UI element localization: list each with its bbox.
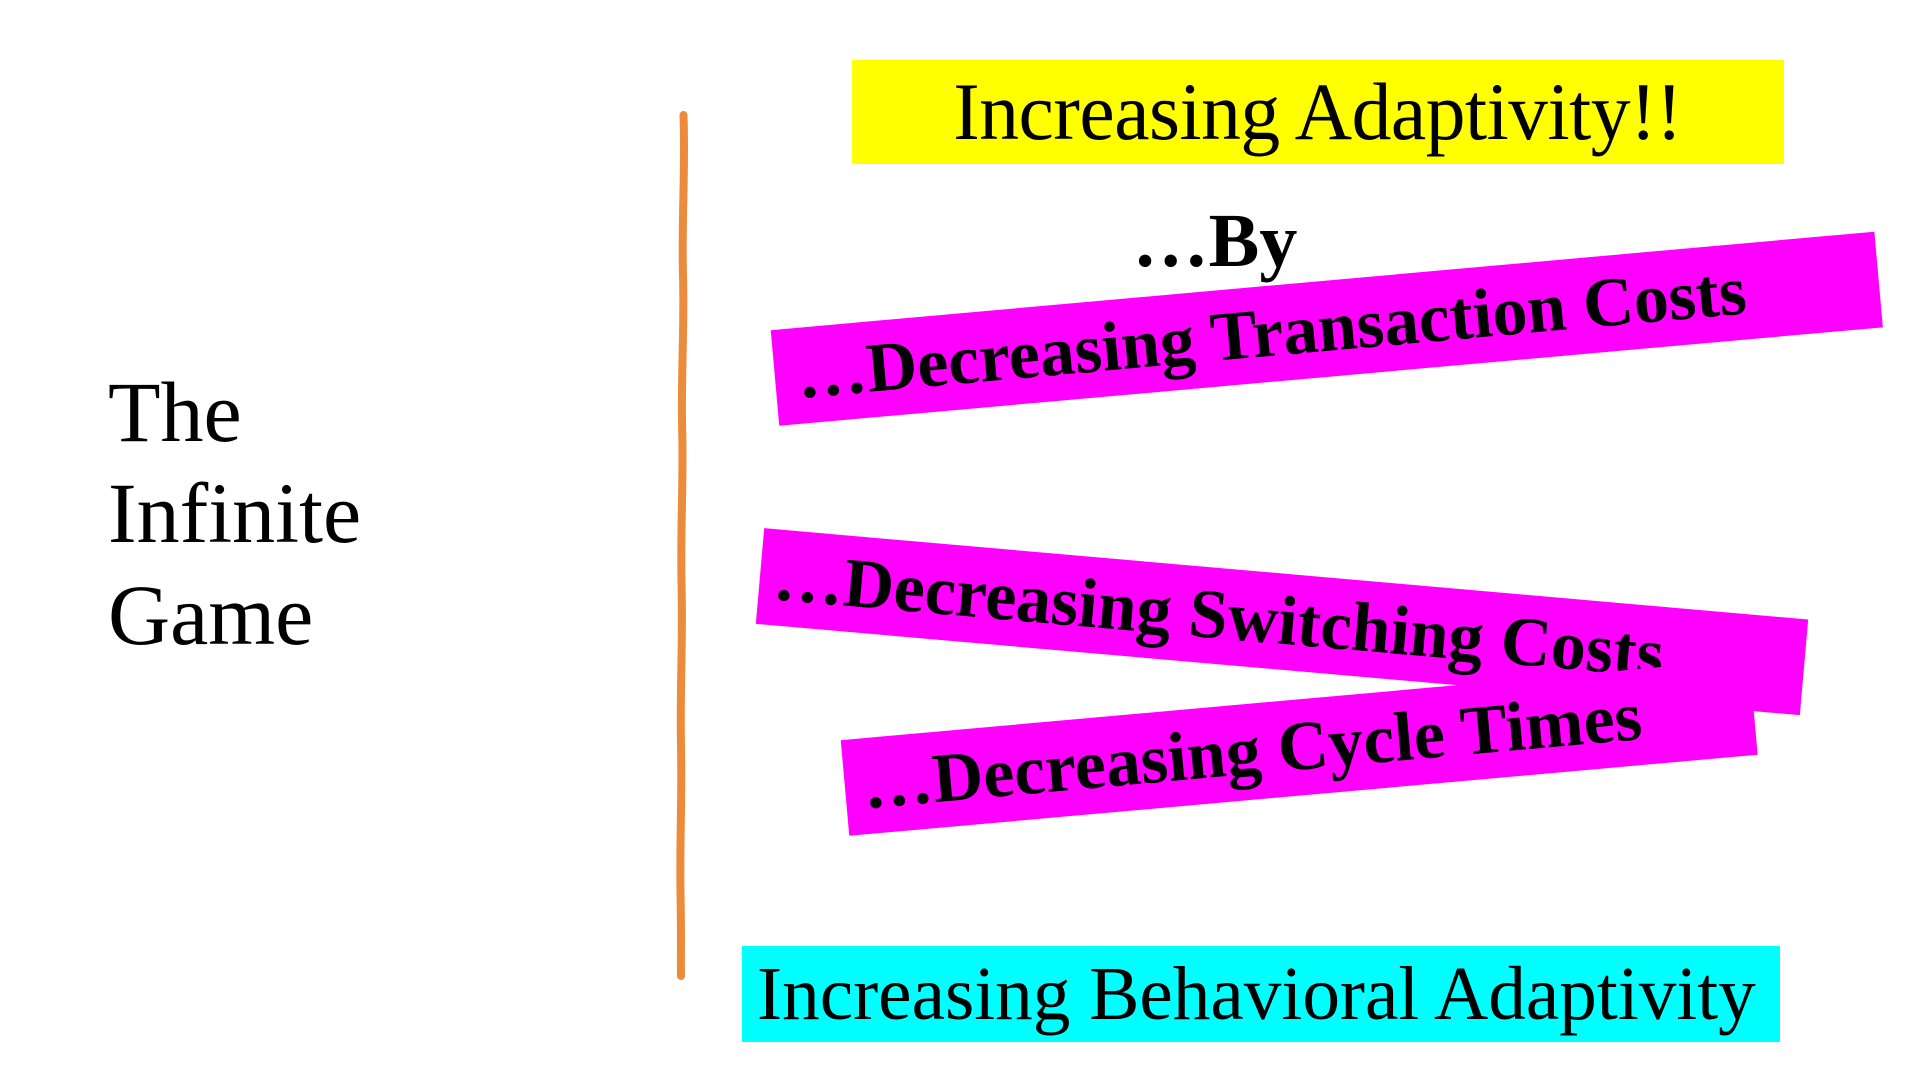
outcome-highlight-bar: Increasing Behavioral Adaptivity: [742, 946, 1780, 1042]
connector-text: …By: [1050, 200, 1380, 284]
divider-line-icon: [650, 100, 720, 1000]
headline-text: Increasing Adaptivity!!: [954, 71, 1683, 153]
method-label: …Decreasing Switching Costs: [771, 542, 1667, 690]
slide-canvas: The Infinite Game Increasing Adaptivity!…: [0, 0, 1920, 1080]
headline-highlight-bar: Increasing Adaptivity!!: [852, 60, 1784, 164]
page-title: The Infinite Game: [108, 362, 578, 666]
method-bar-cycle-times: …Decreasing Cycle Times: [841, 659, 1758, 836]
outcome-text: Increasing Behavioral Adaptivity: [757, 956, 1756, 1032]
vertical-divider: [650, 100, 720, 1000]
method-label: …Decreasing Cycle Times: [860, 682, 1645, 821]
